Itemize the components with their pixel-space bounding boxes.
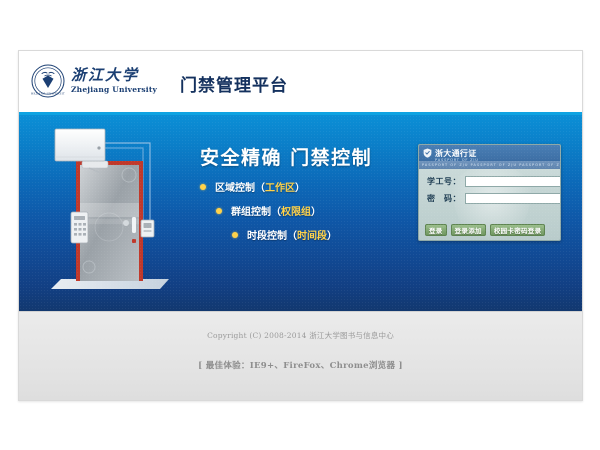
logo-name-cn: 浙江大学 bbox=[71, 68, 157, 83]
feature-tail: ） bbox=[327, 227, 337, 242]
password-input[interactable] bbox=[465, 193, 561, 204]
banner-feature-list: 区域控制（工作区） 群组控制（权限组） 时段控制（时间段） bbox=[200, 179, 337, 251]
feature-tail: ） bbox=[295, 179, 305, 194]
bullet-dot-icon bbox=[232, 232, 238, 238]
login-add-button[interactable]: 登录添加 bbox=[451, 224, 486, 236]
feature-label: 区域控制（ bbox=[215, 179, 265, 194]
userid-input[interactable] bbox=[465, 176, 561, 187]
site-footer: Copyright (C) 2008-2014 浙江大学图书与信息中心 [ 最佳… bbox=[19, 311, 582, 400]
page-root: ZHEJIANG UNIVERSITY 浙江大学 Zhejiang Univer… bbox=[0, 0, 600, 450]
feature-accent: 权限组 bbox=[281, 203, 311, 218]
password-label: 密 码： bbox=[427, 193, 465, 204]
feature-item-area-control: 区域控制（工作区） bbox=[200, 179, 337, 194]
feature-item-time-control: 时段控制（时间段） bbox=[232, 227, 337, 242]
banner-slogan: 安全精确 门禁控制 bbox=[200, 143, 372, 170]
login-panel: 浙大通行证 PASSPORT OF ZJU PASSPORT OF ZJU PA… bbox=[418, 144, 561, 241]
shield-icon bbox=[423, 148, 432, 158]
site-header: ZHEJIANG UNIVERSITY 浙江大学 Zhejiang Univer… bbox=[19, 51, 582, 112]
university-logo[interactable]: ZHEJIANG UNIVERSITY 浙江大学 Zhejiang Univer… bbox=[31, 64, 157, 98]
feature-label: 时段控制（ bbox=[247, 227, 297, 242]
feature-label: 群组控制（ bbox=[231, 203, 281, 218]
feature-tail: ） bbox=[311, 203, 321, 218]
hero-banner: 安全精确 门禁控制 区域控制（工作区） 群组控制（权限组） 时段控制（时间段） bbox=[19, 115, 582, 311]
userid-label: 学工号： bbox=[427, 176, 465, 187]
bullet-dot-icon bbox=[200, 184, 206, 190]
campus-card-login-button[interactable]: 校园卡密码登录 bbox=[490, 224, 546, 236]
feature-accent: 工作区 bbox=[265, 179, 295, 194]
page-title: 门禁管理平台 bbox=[180, 71, 288, 96]
feature-accent: 时间段 bbox=[297, 227, 327, 242]
svg-text:ZHEJIANG UNIVERSITY: ZHEJIANG UNIVERSITY bbox=[31, 92, 65, 96]
footer-copyright: Copyright (C) 2008-2014 浙江大学图书与信息中心 bbox=[19, 330, 582, 341]
login-panel-strip: PASSPORT OF ZJU PASSPORT OF ZJU PASSPORT… bbox=[419, 161, 560, 169]
site-container: ZHEJIANG UNIVERSITY 浙江大学 Zhejiang Univer… bbox=[18, 50, 583, 401]
logo-wordmark: 浙江大学 Zhejiang University bbox=[71, 68, 157, 94]
feature-item-group-control: 群组控制（权限组） bbox=[216, 203, 337, 218]
login-panel-strip-text: PASSPORT OF ZJU PASSPORT OF ZJU PASSPORT… bbox=[419, 163, 560, 167]
footer-browser-note: [ 最佳体验：IE9+、FireFox、Chrome浏览器 ] bbox=[19, 359, 582, 371]
access-control-door-illustration-icon bbox=[35, 117, 185, 307]
bullet-dot-icon bbox=[216, 208, 222, 214]
logo-name-en: Zhejiang University bbox=[71, 86, 157, 94]
login-button[interactable]: 登录 bbox=[425, 224, 447, 236]
userid-field-row: 学工号： bbox=[427, 176, 552, 187]
zhejiang-university-emblem-icon: ZHEJIANG UNIVERSITY bbox=[31, 64, 65, 98]
login-button-row: 登录 登录添加 校园卡密码登录 bbox=[425, 224, 556, 236]
login-form: 学工号： 密 码： bbox=[419, 169, 560, 204]
password-field-row: 密 码： bbox=[427, 193, 552, 204]
login-panel-titlebar: 浙大通行证 PASSPORT OF ZJU bbox=[419, 145, 560, 161]
